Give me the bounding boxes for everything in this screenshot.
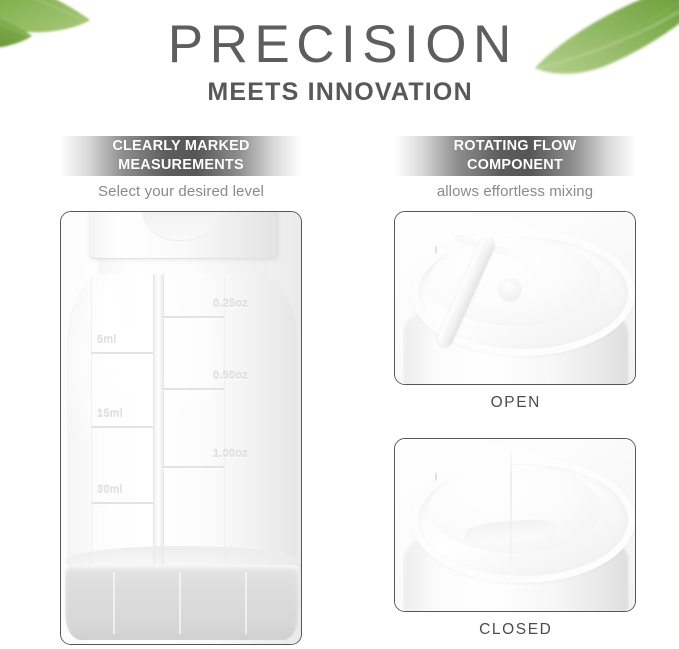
bottle-seam [91, 276, 92, 566]
bottle-cap [89, 211, 279, 259]
bottle-mark-label: 0.25oz [213, 298, 248, 310]
graduation-tick [162, 316, 224, 318]
bottle-base-rib [179, 572, 181, 634]
graduation-tick [162, 388, 224, 390]
bottle-base-rib [113, 572, 115, 634]
cap-open-photo-frame [394, 211, 636, 385]
headline-main: PRECISION [0, 17, 679, 73]
flow-banner-line1: ROTATING FLOW [454, 138, 577, 154]
flow-subtitle: allows effortless mixing [394, 183, 636, 200]
graduation-tick [91, 502, 153, 504]
cap-highlight [429, 447, 549, 481]
flow-banner: ROTATING FLOW COMPONENT [394, 136, 636, 176]
cap-closed-photo [395, 439, 635, 611]
cap-closed-photo-frame [394, 438, 636, 612]
flow-banner-text: ROTATING FLOW COMPONENT [454, 137, 577, 174]
measurements-banner-line1: CLEARLY MARKED [112, 138, 249, 154]
bottle-seam [224, 276, 225, 566]
cap-open-caption: OPEN [394, 394, 636, 412]
graduation-strip [153, 274, 164, 574]
measurements-banner-text: CLEARLY MARKED MEASUREMENTS [112, 137, 249, 174]
cap-open-photo [395, 212, 635, 384]
measurements-banner: CLEARLY MARKED MEASUREMENTS [60, 136, 302, 176]
bottle-photo-frame: 0.25oz 0.50oz 1.00oz 5ml 15ml 30ml [60, 211, 302, 645]
bottle-mark-label: 1.00oz [213, 448, 248, 460]
graduation-tick [162, 466, 224, 468]
rotating-flow-hub [499, 278, 521, 300]
measurements-banner-line2: MEASUREMENTS [118, 157, 244, 173]
cap-closed-caption: CLOSED [394, 621, 636, 639]
bottle-mark-label: 0.50oz [213, 370, 248, 382]
measurements-subtitle: Select your desired level [60, 183, 302, 200]
flow-banner-line2: COMPONENT [467, 157, 563, 173]
graduation-tick [91, 426, 153, 428]
headline-sub: MEETS INNOVATION [0, 78, 679, 107]
cap-highlight [429, 220, 549, 254]
graduation-tick [91, 352, 153, 354]
bottle-mark-label: 5ml [97, 334, 117, 346]
feature-column-flow-component: ROTATING FLOW COMPONENT allows effortles… [394, 136, 636, 639]
bottle-base-rib [245, 572, 247, 634]
feature-column-measurements: CLEARLY MARKED MEASUREMENTS Select your … [60, 136, 302, 645]
bottle-mark-label: 15ml [97, 408, 123, 420]
bottle-photo: 0.25oz 0.50oz 1.00oz 5ml 15ml 30ml [61, 212, 301, 644]
page-headline: PRECISION MEETS INNOVATION [0, 17, 679, 107]
bottle-mark-label: 30ml [97, 484, 123, 496]
bottle-base [65, 565, 299, 640]
